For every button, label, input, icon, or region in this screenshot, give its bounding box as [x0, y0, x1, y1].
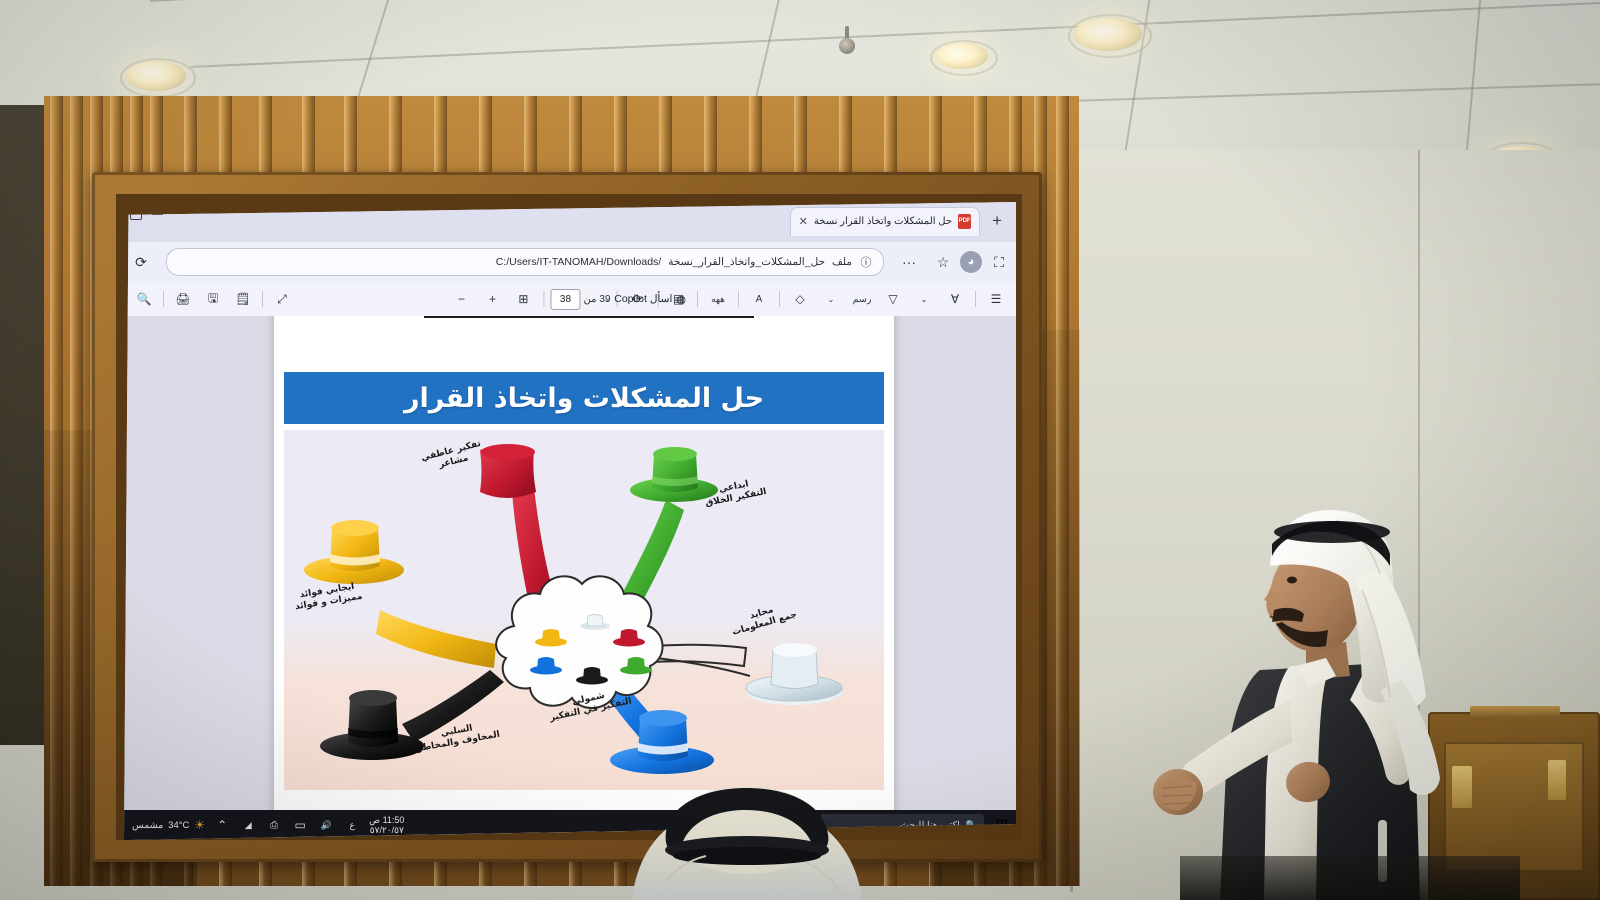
address-filename: حل_المشكلات_واتخاذ_القرار_نسخة	[668, 256, 825, 268]
more-options-icon[interactable]: ···	[897, 250, 921, 274]
hat-yellow	[304, 520, 404, 584]
battery-icon[interactable]: ▭	[291, 816, 309, 834]
pdf-page-viewport[interactable]: حل المشكلات واتخاذ القرار	[124, 316, 1016, 840]
volume-icon[interactable]: 🔊	[317, 816, 335, 834]
sprinkler-head	[839, 38, 855, 54]
ceiling-downlight	[936, 43, 988, 69]
browser-tab[interactable]: PDF حل المشكلات واتخاذ القرار نسخة ✕	[790, 207, 980, 236]
copilot-chevron-icon: ⌄	[604, 295, 611, 304]
pdf-left-tools: ⤢ 🗒 🖫 🖨 🔍	[130, 282, 296, 316]
fit-page-icon[interactable]: ⊞	[509, 288, 537, 310]
pen-chevron-icon[interactable]: ⌄	[910, 288, 938, 310]
pen-icon[interactable]: ∀	[941, 288, 969, 310]
tab-strip: + PDF حل المشكلات واتخاذ القرار نسخة ✕	[790, 206, 1016, 236]
collections-icon[interactable]: ⛶	[987, 250, 1011, 274]
slide-top-black-bar	[424, 316, 754, 318]
weather-widget[interactable]: ☀ 34°C مشمس	[132, 818, 205, 832]
copilot-icon: ◍	[676, 293, 686, 306]
presenter	[1140, 470, 1490, 900]
pdf-right-tools: ☰ ∀ ⌄ ▽ رسم ⌄ ◇ A ههه ◍ اسأل Copilot	[599, 282, 1010, 316]
zoom-in-button[interactable]: +	[478, 288, 506, 310]
pdf-toolbar: ⤢ 🗒 🖫 🖨 🔍 ▤ ⟳ 39 من 38	[124, 282, 1016, 317]
six-hats-diagram: تفكير عاطفي مشاعر ابداعي التفكير الخلاق …	[284, 430, 884, 790]
pdf-favicon: PDF	[958, 214, 971, 229]
address-file-label: ملف	[832, 256, 852, 268]
close-tab-icon[interactable]: ✕	[799, 215, 808, 228]
language-indicator[interactable]: ع	[343, 816, 361, 834]
list-icon[interactable]: ☰	[982, 288, 1010, 310]
hat-white	[746, 643, 842, 705]
tray-chevron-icon[interactable]: ⌃	[213, 816, 231, 834]
taskbar-clock[interactable]: 11:50 ص ٥٧/٢٠/٥٧	[369, 815, 404, 836]
fit-to-width-icon[interactable]: ⤢	[268, 288, 296, 310]
search-icon[interactable]: 🔍	[130, 288, 158, 310]
address-bar[interactable]: ⓘ ملف حل_المشكلات_واتخاذ_القرار_نسخة C:/…	[166, 248, 884, 276]
ask-copilot-button[interactable]: ◍ اسأل Copilot ⌄	[599, 288, 691, 310]
save-icon[interactable]: 🖫	[199, 288, 227, 310]
new-tab-button[interactable]: +	[986, 211, 1008, 231]
weather-temperature: 34°C	[168, 820, 189, 831]
conference-room-scene: + PDF حل المشكلات واتخاذ القرار نسخة ✕ ⛶…	[0, 0, 1600, 900]
slide-title-text: حل المشكلات واتخاذ القرار	[404, 383, 764, 414]
draw-label[interactable]: رسم	[848, 288, 876, 310]
hat-red	[480, 444, 536, 498]
text-edit-icon[interactable]: 🗒	[229, 288, 257, 310]
highlighter-icon[interactable]: ▽	[879, 288, 907, 310]
presenter-figure	[1140, 470, 1490, 900]
favorite-star-icon[interactable]: ☆	[931, 250, 955, 274]
slide-title-banner: حل المشكلات واتخاذ القرار	[284, 372, 884, 424]
erase-icon[interactable]: ◇	[786, 288, 814, 310]
profile-avatar[interactable]: ◕	[960, 251, 982, 273]
tab-title: حل المشكلات واتخاذ القرار نسخة	[814, 216, 952, 227]
audience-member	[610, 770, 910, 900]
zoom-out-button[interactable]: −	[447, 288, 475, 310]
share-icon[interactable]: ⎙	[265, 816, 283, 834]
draw-chevron-icon[interactable]: ⌄	[817, 288, 845, 310]
weather-sun-icon: ☀	[194, 818, 205, 832]
refresh-icon[interactable]: ⟳	[129, 250, 153, 274]
highlight-swatch-icon[interactable]: ههه	[704, 288, 732, 310]
copilot-label: اسأل Copilot	[614, 293, 672, 305]
podium-gold-trim	[1548, 760, 1566, 800]
projection-screen: + PDF حل المشكلات واتخاذ القرار نسخة ✕ ⛶…	[124, 202, 1016, 840]
audience-figure	[610, 770, 910, 900]
network-icon[interactable]: ◢	[239, 816, 257, 834]
address-path: C:/Users/IT-TANOMAH/Downloads/	[496, 256, 662, 268]
text-size-icon[interactable]: A	[745, 288, 773, 310]
print-icon[interactable]: 🖨	[169, 288, 197, 310]
weather-condition: مشمس	[132, 820, 163, 831]
page-of-label: من	[583, 294, 596, 305]
site-info-icon[interactable]: ⓘ	[859, 250, 873, 274]
pdf-page-38: حل المشكلات واتخاذ القرار	[274, 316, 894, 840]
page-number-input[interactable]: 38	[550, 289, 580, 310]
ceiling-downlight	[1074, 18, 1142, 51]
system-tray: 11:50 ص ٥٧/٢٠/٥٧ ع 🔊 ▭ ⎙ ◢ ⌃ ☀ 34°C مشمس	[124, 815, 412, 836]
ceiling-downlight	[126, 61, 186, 91]
edge-address-bar-row: ⛶ ◕ ☆ ··· ⓘ ملف حل_المشكلات_واتخاذ_القرا…	[124, 242, 1016, 282]
